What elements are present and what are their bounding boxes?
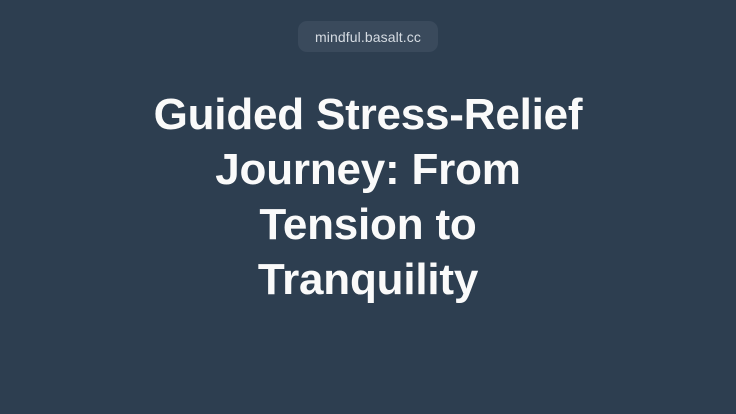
page-title: Guided Stress-Relief Journey: From Tensi… [148,87,588,307]
domain-badge: mindful.basalt.cc [298,21,438,52]
headline-container: Guided Stress-Relief Journey: From Tensi… [148,87,588,307]
share-card: mindful.basalt.cc Guided Stress-Relief J… [0,0,736,414]
domain-badge-label: mindful.basalt.cc [315,30,421,44]
badge-row: mindful.basalt.cc [0,21,736,52]
